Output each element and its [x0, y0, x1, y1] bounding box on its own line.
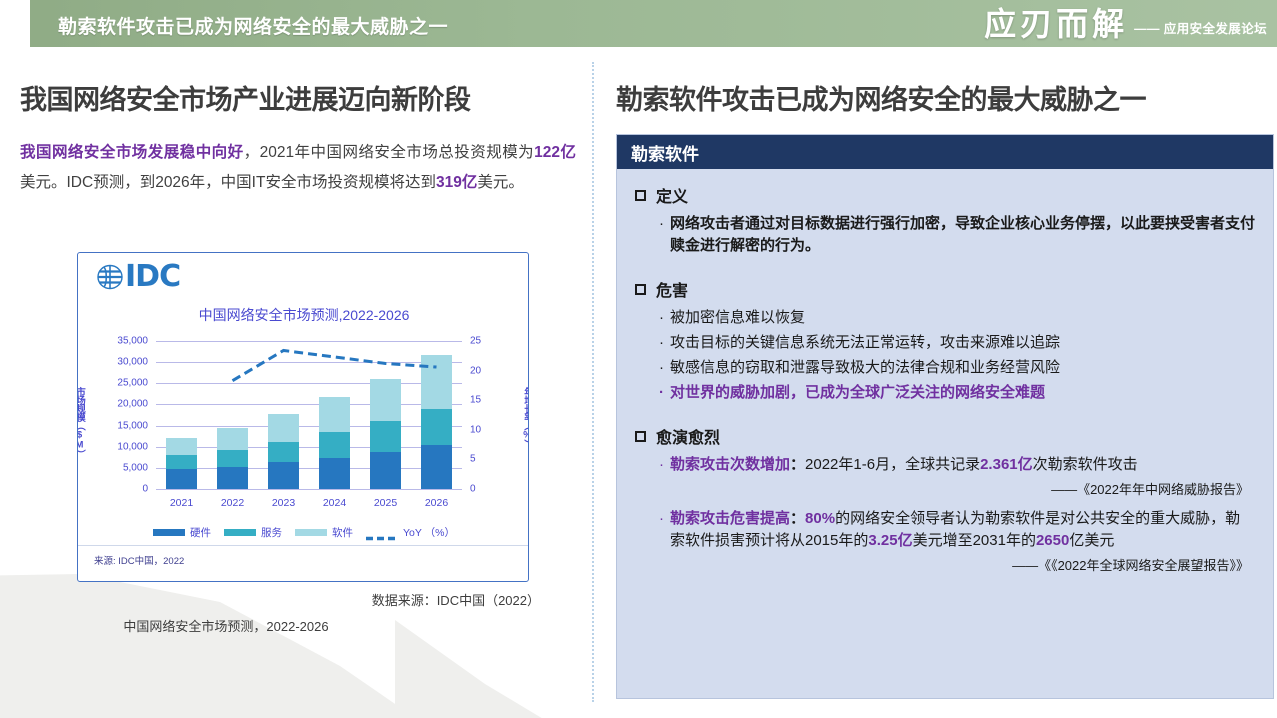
panel-header: 勒索软件 — [617, 135, 1273, 169]
chart-title: 中国网络安全市场预测,2022-2026 — [78, 305, 529, 325]
brand-subtitle: —— 应用安全发展论坛 — [1134, 18, 1267, 37]
bullet-dot-icon: · — [659, 382, 664, 404]
header-left-accent — [0, 0, 30, 50]
right-page-title: 勒索软件攻击已成为网络安全的最大威胁之一 — [616, 78, 1146, 117]
list-item-text: 网络攻击者通过对目标数据进行强行加密，导致企业核心业务停摆，以此要挟受害者支付赎… — [670, 213, 1255, 257]
stat1-text-1: 2022年1-6月，全球共记录 — [805, 456, 980, 473]
left-column: 我国网络安全市场产业进展迈向新阶段 我国网络安全市场发展稳中向好，2021年中国… — [0, 56, 588, 718]
stat2-text-2: 美元增至2031年的 — [913, 532, 1036, 549]
spacer — [635, 261, 1255, 277]
idc-chart-card: IDC 中国网络安全市场预测,2022-2026 市场规模（$M） 年增长率（%… — [77, 252, 529, 582]
stat1-label: 勒索攻击次数增加 — [670, 456, 790, 473]
section-escalation: 愈演愈烈 · 勒索攻击次数增加：2022年1-6月，全球共记录2.361亿次勒索… — [635, 424, 1255, 574]
header-underline — [0, 47, 1277, 50]
section-harm-bullets: · 被加密信息难以恢复 · 攻击目标的关键信息系统无法正常运转，攻击来源难以追踪… — [635, 307, 1255, 404]
section-harm-header: 危害 — [635, 277, 1255, 301]
list-item-text: 敏感信息的窃取和泄露导致极大的法律合规和业务经营风险 — [670, 357, 1060, 379]
stat2-label: 勒索攻击危害提高 — [670, 510, 790, 527]
list-item: · 攻击目标的关键信息系统无法正常运转，攻击来源难以追踪 — [659, 332, 1255, 354]
chart-caption-source: 数据来源：IDC中国（2022） — [0, 590, 540, 609]
stat2-value-2: 3.25亿 — [868, 532, 912, 549]
stat2-value-1: 80% — [805, 510, 835, 527]
slide-canvas: 勒索软件攻击已成为网络安全的最大威胁之一 应刃而解 —— 应用安全发展论坛 我国… — [0, 0, 1277, 718]
chart-legend-item: 软件 — [295, 525, 353, 540]
chart-legend-item: 硬件 — [153, 525, 211, 540]
bullet-dot-icon: · — [659, 213, 664, 235]
bullet-dot-icon: · — [659, 332, 664, 354]
chart-legend-swatch — [153, 529, 185, 536]
list-item-text: 对世界的威胁加剧，已成为全球广泛关注的网络安全难题 — [670, 382, 1045, 404]
ransomware-panel: 勒索软件 定义 · 网络攻击者通过对目标数据进行强行加密，导致企业核心业务停摆，… — [616, 134, 1274, 699]
header-brand: 应刃而解 —— 应用安全发展论坛 — [984, 4, 1267, 44]
bullet-dot-icon: · — [659, 508, 664, 530]
slide-header: 勒索软件攻击已成为网络安全的最大威胁之一 应刃而解 —— 应用安全发展论坛 — [0, 0, 1277, 50]
idc-globe-icon — [96, 263, 124, 291]
chart-legend-label: 软件 — [332, 525, 353, 540]
stat2-citation: ——《《2022年全球网络安全展望报告》》 — [659, 555, 1249, 574]
square-bullet-icon — [635, 284, 646, 295]
list-item: · 被加密信息难以恢复 — [659, 307, 1255, 329]
bullet-dot-icon: · — [659, 307, 664, 329]
panel-header-text: 勒索软件 — [631, 140, 699, 165]
bullet-dot-icon: · — [659, 454, 664, 476]
chart-legend-label: 硬件 — [190, 525, 211, 540]
chart-legend-label: 服务 — [261, 525, 282, 540]
paragraph-value-1: 122亿 — [534, 144, 576, 161]
paragraph-text-2: 美元。IDC预测，到2026年，中国IT安全市场投资规模将达到 — [20, 174, 436, 191]
chart-divider — [78, 545, 529, 546]
stat1-value: 2.361亿 — [980, 456, 1033, 473]
chart-legend-dash-icon — [366, 529, 398, 536]
list-item: · 敏感信息的窃取和泄露导致极大的法律合规和业务经营风险 — [659, 357, 1255, 379]
chart-legend-item-yoy: YoY （%） — [366, 525, 455, 540]
chart-legend-label: YoY （%） — [403, 525, 455, 540]
chart-legend-swatch — [295, 529, 327, 536]
chart-plot-area: 市场规模（$M） 年增长率（%） 05,00010,00015,00020,00… — [78, 331, 529, 521]
section-escalation-header: 愈演愈烈 — [635, 424, 1255, 448]
list-item-text: 勒索攻击危害提高：80%的网络安全领导者认为勒索软件是对公共安全的重大威胁，勒索… — [670, 508, 1255, 552]
chart-source-note: 来源: IDC中国，2022 — [94, 553, 184, 567]
list-item-text: 勒索攻击次数增加：2022年1-6月，全球共记录2.361亿次勒索软件攻击 — [670, 454, 1138, 476]
list-item-text: 被加密信息难以恢复 — [670, 307, 805, 329]
paragraph-value-2: 319亿 — [436, 174, 477, 191]
brand-logo-text: 应刃而解 — [984, 4, 1128, 44]
section-harm-title: 危害 — [656, 277, 688, 301]
stat2-sep: ： — [790, 510, 805, 527]
section-escalation-bullets: · 勒索攻击次数增加：2022年1-6月，全球共记录2.361亿次勒索软件攻击 … — [635, 454, 1255, 574]
header-title: 勒索软件攻击已成为网络安全的最大威胁之一 — [58, 12, 448, 39]
panel-body: 定义 · 网络攻击者通过对目标数据进行强行加密，导致企业核心业务停摆，以此要挟受… — [617, 169, 1273, 574]
stat1-text-2: 次勒索软件攻击 — [1033, 456, 1138, 473]
chart-legend: 硬件服务软件YoY （%） — [78, 525, 529, 540]
square-bullet-icon — [635, 431, 646, 442]
list-item-stat-1: · 勒索攻击次数增加：2022年1-6月，全球共记录2.361亿次勒索软件攻击 — [659, 454, 1255, 476]
section-harm: 危害 · 被加密信息难以恢复 · 攻击目标的关键信息系统无法正常运转，攻击来源难… — [635, 277, 1255, 404]
chart-caption-title: 中国网络安全市场预测，2022-2026 — [0, 616, 452, 635]
spacer — [635, 408, 1255, 424]
stat2-text-3: 亿美元 — [1069, 532, 1114, 549]
paragraph-text-1: ，2021年中国网络安全市场总投资规模为 — [244, 144, 535, 161]
stat2-value-3: 2650 — [1036, 532, 1069, 549]
list-item: · 网络攻击者通过对目标数据进行强行加密，导致企业核心业务停摆，以此要挟受害者支… — [659, 213, 1255, 257]
left-page-title: 我国网络安全市场产业进展迈向新阶段 — [20, 78, 471, 117]
list-item-stat-2: · 勒索攻击危害提高：80%的网络安全领导者认为勒索软件是对公共安全的重大威胁，… — [659, 508, 1255, 552]
paragraph-lead: 我国网络安全市场发展稳中向好 — [20, 144, 244, 161]
left-paragraph: 我国网络安全市场发展稳中向好，2021年中国网络安全市场总投资规模为122亿美元… — [20, 138, 576, 198]
stat1-sep: ： — [790, 456, 805, 473]
section-definition-bullets: · 网络攻击者通过对目标数据进行强行加密，导致企业核心业务停摆，以此要挟受害者支… — [635, 213, 1255, 257]
column-divider — [592, 62, 594, 702]
bullet-dot-icon: · — [659, 357, 664, 379]
idc-logo: IDC — [96, 263, 180, 291]
stat1-citation: ——《2022年年中网络威胁报告》 — [659, 479, 1249, 498]
right-column: 勒索软件攻击已成为网络安全的最大威胁之一 勒索软件 定义 · 网络攻击者通过对目… — [608, 56, 1277, 718]
list-item-text: 攻击目标的关键信息系统无法正常运转，攻击来源难以追踪 — [670, 332, 1060, 354]
chart-legend-swatch — [224, 529, 256, 536]
paragraph-text-3: 美元。 — [477, 174, 524, 191]
chart-yoy-line — [78, 331, 529, 521]
list-item-highlight: · 对世界的威胁加剧，已成为全球广泛关注的网络安全难题 — [659, 382, 1255, 404]
section-definition: 定义 · 网络攻击者通过对目标数据进行强行加密，导致企业核心业务停摆，以此要挟受… — [635, 183, 1255, 257]
idc-logo-text: IDC — [125, 263, 180, 291]
square-bullet-icon — [635, 190, 646, 201]
section-escalation-title: 愈演愈烈 — [656, 424, 720, 448]
chart-legend-item: 服务 — [224, 525, 282, 540]
section-definition-header: 定义 — [635, 183, 1255, 207]
section-definition-title: 定义 — [656, 183, 688, 207]
